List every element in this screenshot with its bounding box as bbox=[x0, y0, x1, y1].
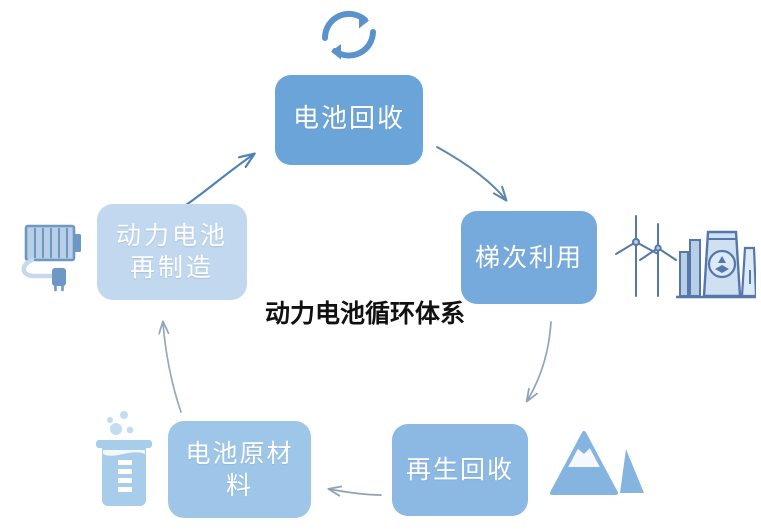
node-battery-recycling-label: 电池回收 bbox=[293, 103, 405, 136]
mountain-icon bbox=[548, 427, 646, 499]
arrow-recycling-to-cascade bbox=[437, 147, 506, 200]
diagram-title: 动力电池循环体系 bbox=[240, 294, 490, 330]
node-regenerative-recycling-label: 再生回收 bbox=[406, 454, 514, 486]
node-battery-recycling[interactable]: 电池回收 bbox=[275, 75, 423, 165]
arrow-cascade-to-regenerative bbox=[527, 322, 551, 401]
node-battery-raw-materials-label: 电池原材 料 bbox=[185, 438, 293, 502]
diagram-canvas: 电池回收 梯次利用 再生回收 电池原材 料 动力电池 再制造 动力电池循环体系 bbox=[0, 0, 761, 532]
node-regenerative-recycling[interactable]: 再生回收 bbox=[392, 424, 528, 516]
node-battery-raw-materials[interactable]: 电池原材 料 bbox=[168, 421, 311, 518]
recycle-arrows-icon bbox=[311, 2, 387, 68]
wind-turbine-power-plant-icon bbox=[614, 212, 756, 302]
arrow-remanufacturing-to-recycling bbox=[186, 154, 254, 205]
node-cascade-utilization-label: 梯次利用 bbox=[475, 242, 583, 274]
beaker-icon bbox=[86, 406, 166, 508]
node-power-battery-remanufacturing-label: 动力电池 再制造 bbox=[116, 220, 228, 284]
node-cascade-utilization[interactable]: 梯次利用 bbox=[461, 211, 597, 304]
arrow-regenerative-to-raw bbox=[329, 489, 381, 495]
arrow-raw-to-remanufacturing bbox=[163, 322, 181, 412]
node-power-battery-remanufacturing[interactable]: 动力电池 再制造 bbox=[97, 204, 247, 300]
battery-plug-icon bbox=[12, 218, 90, 292]
